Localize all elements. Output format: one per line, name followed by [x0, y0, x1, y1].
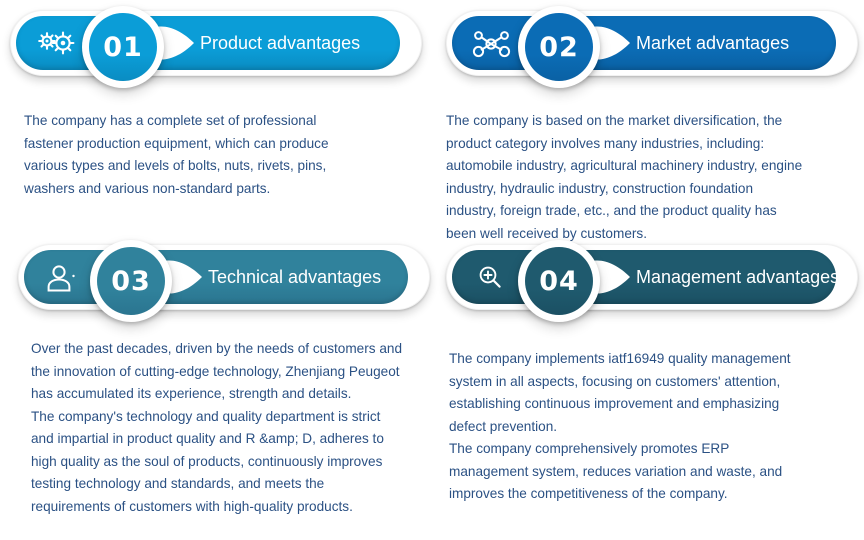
banner-title-2: Market advantages: [636, 6, 824, 80]
banner-2[interactable]: 02 Market advantages: [446, 6, 858, 80]
card-paragraph: The company comprehensively promotes ERP…: [449, 438, 811, 506]
card-paragraph: The company implements iatf16949 quality…: [449, 348, 811, 438]
advantage-card-4: 04 Management advantages The company imp…: [446, 240, 858, 506]
badge-disc-3: 03: [97, 247, 165, 315]
badge-number: 02: [539, 34, 579, 61]
card-body-1: The company has a complete set of profes…: [24, 110, 364, 200]
banner-title-1: Product advantages: [200, 6, 388, 80]
badge-ring-3: 03: [90, 240, 172, 322]
card-paragraph: The company has a complete set of profes…: [24, 110, 364, 200]
zoom-in-icon: [470, 262, 514, 294]
badge-disc-2: 02: [525, 13, 593, 81]
badge-number: 04: [539, 268, 579, 295]
molecule-network-icon: [470, 28, 514, 60]
gears-icon: [34, 28, 78, 60]
badge-disc-4: 04: [525, 247, 593, 315]
badge-number: 01: [103, 34, 143, 61]
card-body-2: The company is based on the market diver…: [446, 110, 806, 245]
card-body-4: The company implements iatf16949 quality…: [449, 348, 811, 506]
advantage-card-2: 02 Market advantages The company is base…: [446, 6, 858, 245]
advantage-card-1: 01 Product advantages The company has a …: [10, 6, 422, 200]
card-paragraph: Over the past decades, driven by the nee…: [31, 338, 403, 406]
banner-title-3: Technical advantages: [208, 240, 396, 314]
advantage-card-3: 03 Technical advantages Over the past de…: [18, 240, 430, 518]
banner-3[interactable]: 03 Technical advantages: [18, 240, 430, 314]
badge-ring-4: 04: [518, 240, 600, 322]
badge-number: 03: [111, 268, 151, 295]
badge-ring-2: 02: [518, 6, 600, 88]
banner-1[interactable]: 01 Product advantages: [10, 6, 422, 80]
badge-ring-1: 01: [82, 6, 164, 88]
user-icon: [42, 262, 86, 294]
card-body-3: Over the past decades, driven by the nee…: [31, 338, 403, 518]
advantages-infographic: 01 Product advantages The company has a …: [0, 0, 864, 540]
card-paragraph: The company is based on the market diver…: [446, 110, 806, 245]
banner-4[interactable]: 04 Management advantages: [446, 240, 858, 314]
card-paragraph: The company's technology and quality dep…: [31, 406, 403, 519]
banner-title-4: Management advantages: [636, 240, 824, 314]
badge-disc-1: 01: [89, 13, 157, 81]
